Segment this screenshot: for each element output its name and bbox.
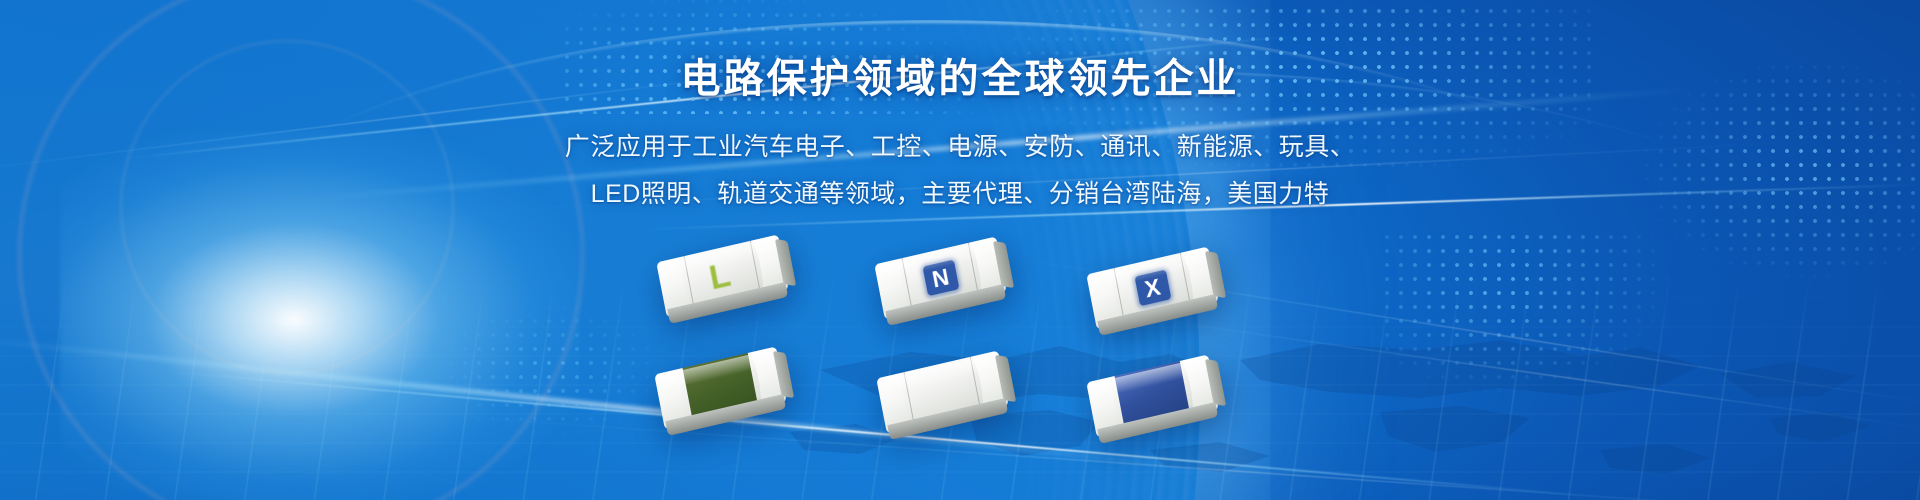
hero-banner: 电路保护领域的全球领先企业 广泛应用于工业汽车电子、工控、电源、安防、通讯、新能… (0, 0, 1920, 500)
product-showcase: L N X (0, 0, 1920, 500)
product-chip-blue (1086, 354, 1218, 437)
product-chip-x: X (1086, 246, 1218, 329)
product-chip-plain (876, 350, 1008, 433)
product-chip-n: N (874, 236, 1006, 319)
product-chip-l: L (656, 234, 788, 317)
product-chip-green (654, 346, 786, 429)
